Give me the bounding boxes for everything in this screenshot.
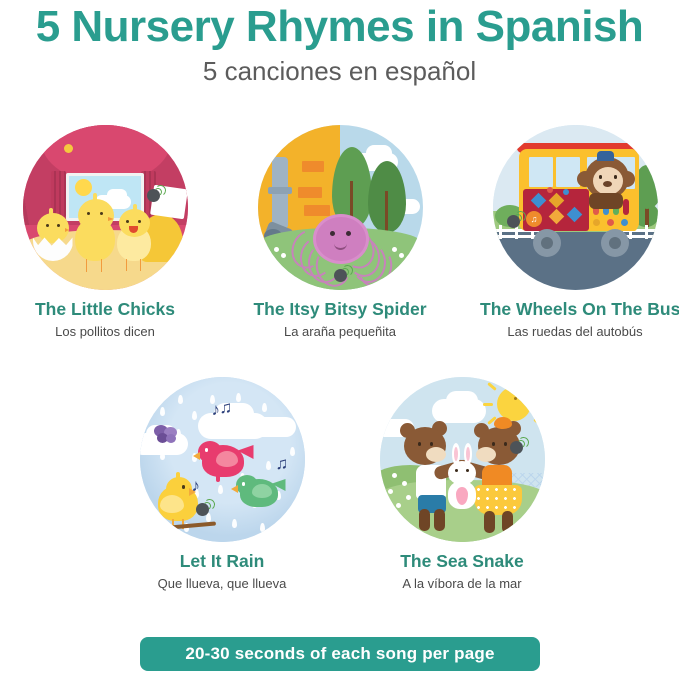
chicks-in-barn-illustration bbox=[23, 125, 188, 290]
song-subtitle: La araña pequeñita bbox=[245, 323, 435, 340]
song-card-the-wheels-on-the-bus[interactable]: ♫ bbox=[480, 125, 670, 340]
monkey-driving-bus-illustration: ♫ bbox=[493, 125, 658, 290]
sound-icon bbox=[147, 187, 164, 204]
song-title: The Sea Snake bbox=[367, 551, 557, 572]
poster-root: 5 Nursery Rhymes in Spanish 5 canciones … bbox=[0, 0, 679, 673]
song-subtitle: Que llueva, que llueva bbox=[127, 575, 317, 592]
sound-icon bbox=[510, 439, 527, 456]
two-bears-and-rabbit-illustration bbox=[380, 377, 545, 542]
spider-and-waterspout-illustration bbox=[258, 125, 423, 290]
duration-banner-label: 20-30 seconds of each song per page bbox=[185, 644, 494, 664]
song-card-let-it-rain[interactable]: ♪ ♫ ♫ ♪ Let It Rain Que llueva, que llue… bbox=[127, 377, 317, 592]
sound-icon bbox=[334, 267, 351, 284]
song-title: The Itsy Bitsy Spider bbox=[245, 299, 435, 320]
song-title: Let It Rain bbox=[127, 551, 317, 572]
song-card-the-itsy-bitsy-spider[interactable]: The Itsy Bitsy Spider La araña pequeñita bbox=[245, 125, 435, 340]
song-subtitle: A la víbora de la mar bbox=[367, 575, 557, 592]
song-card-the-little-chicks[interactable]: The Little Chicks Los pollitos dicen bbox=[10, 125, 200, 340]
page-title: 5 Nursery Rhymes in Spanish bbox=[0, 2, 679, 52]
song-card-the-sea-snake[interactable]: The Sea Snake A la víbora de la mar bbox=[367, 377, 557, 592]
song-subtitle: Las ruedas del autobús bbox=[480, 323, 670, 340]
page-subtitle: 5 canciones en español bbox=[0, 55, 679, 87]
sound-icon bbox=[507, 213, 524, 230]
duration-banner: 20-30 seconds of each song per page bbox=[140, 637, 540, 671]
birds-in-rain-illustration: ♪ ♫ ♫ ♪ bbox=[140, 377, 305, 542]
sound-icon bbox=[196, 501, 213, 518]
song-title: The Little Chicks bbox=[10, 299, 200, 320]
song-subtitle: Los pollitos dicen bbox=[10, 323, 200, 340]
song-title: The Wheels On The Bus bbox=[480, 299, 670, 320]
